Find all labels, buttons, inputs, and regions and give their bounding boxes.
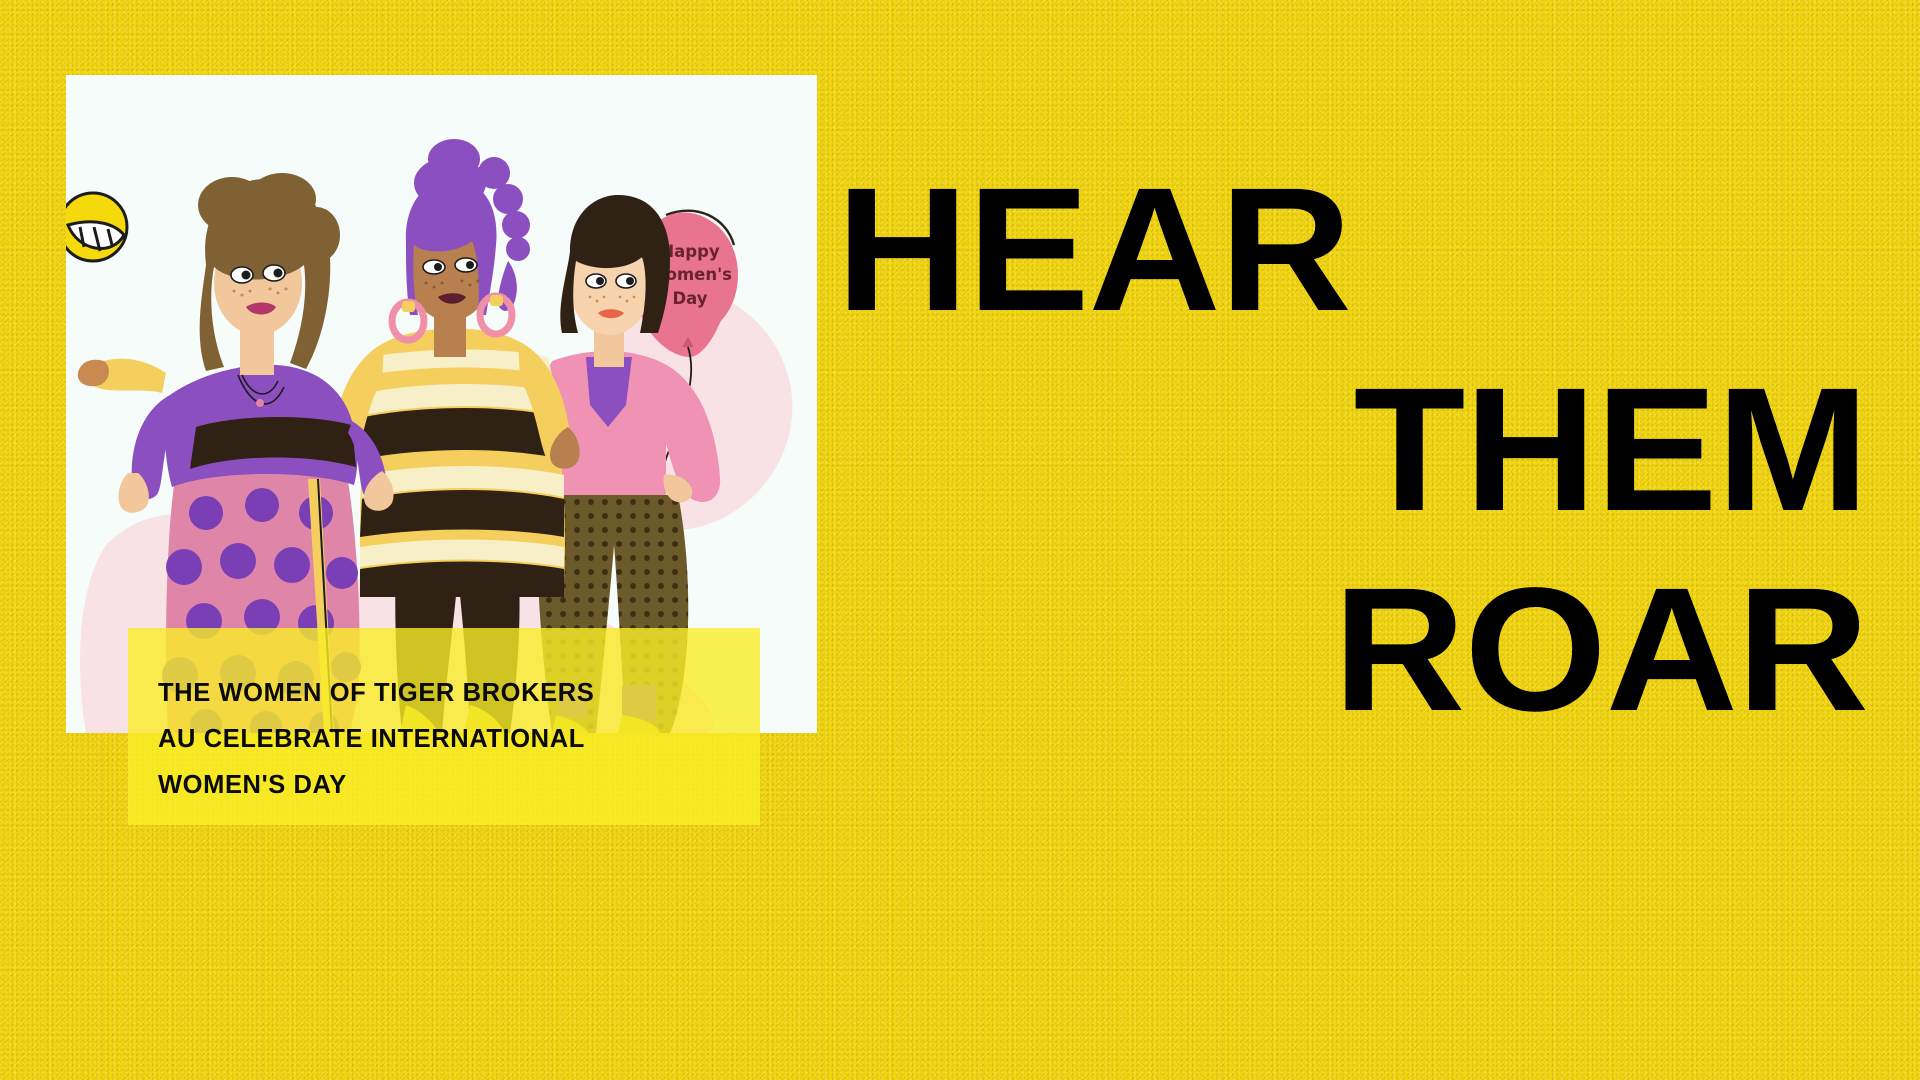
headline-line-1: HEAR	[828, 150, 1868, 350]
coin-smiley-icon	[66, 193, 127, 261]
headline: HEAR THEM ROAR	[868, 150, 1868, 750]
caption-line-1: THE WOMEN OF TIGER BROKERS	[158, 670, 760, 716]
caption-band: THE WOMEN OF TIGER BROKERS AU CELEBRATE …	[128, 628, 760, 825]
caption-line-3: WOMEN'S DAY	[158, 762, 760, 808]
caption-line-2: AU CELEBRATE INTERNATIONAL	[158, 716, 760, 762]
balloon-text-line-3: Day	[672, 289, 707, 308]
headline-line-2: THEM	[828, 350, 1868, 550]
headline-line-3: ROAR	[828, 550, 1868, 750]
